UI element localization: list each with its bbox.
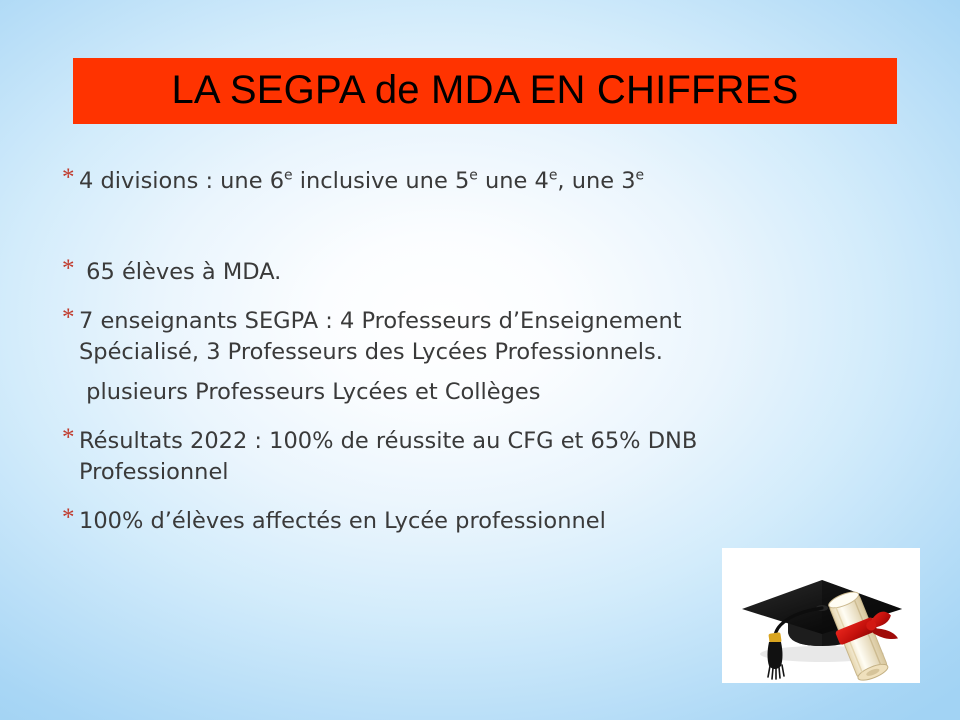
- list-item: plusieurs Professeurs Lycées et Collèges: [62, 377, 892, 408]
- page-title: LA SEGPA de MDA EN CHIFFRES: [171, 70, 798, 112]
- enseignants-line-2: Spécialisé, 3 Professeurs des Lycées Pro…: [79, 339, 663, 365]
- divisions-text-pre: 4 divisions : une 6: [79, 168, 284, 194]
- slide-canvas: LA SEGPA de MDA EN CHIFFRES * 4 division…: [0, 0, 960, 720]
- divisions-text-mid3: , une 3: [557, 168, 635, 194]
- enseignants-line-1: 7 enseignants SEGPA : 4 Professeurs d’En…: [79, 308, 682, 334]
- title-banner: LA SEGPA de MDA EN CHIFFRES: [73, 58, 897, 124]
- list-item: * 4 divisions : une 6e inclusive une 5e …: [62, 166, 892, 197]
- list-item-text: 100% d’élèves affectés en Lycée professi…: [79, 506, 892, 537]
- divisions-text-mid1: inclusive une 5: [293, 168, 470, 194]
- list-item-text: 4 divisions : une 6e inclusive une 5e un…: [79, 166, 892, 197]
- list-item-text: plusieurs Professeurs Lycées et Collèges: [79, 377, 892, 408]
- asterisk-bullet-icon: *: [62, 307, 79, 329]
- ordinal-cinquieme: e: [469, 168, 478, 184]
- asterisk-bullet-icon: *: [62, 507, 79, 529]
- resultats-line-1: Résultats 2022 : 100% de réussite au CFG…: [79, 428, 697, 454]
- list-item: * 65 élèves à MDA.: [62, 257, 892, 288]
- list-item: * Résultats 2022 : 100% de réussite au C…: [62, 426, 892, 488]
- list-item-text: 65 élèves à MDA.: [79, 257, 892, 288]
- list-item: * 7 enseignants SEGPA : 4 Professeurs d’…: [62, 306, 892, 368]
- graduation-cap-image: [722, 548, 920, 683]
- asterisk-bullet-icon: *: [62, 427, 79, 449]
- asterisk-bullet-icon: *: [62, 167, 79, 189]
- divisions-text-mid2: une 4: [478, 168, 549, 194]
- ordinal-sixieme: e: [284, 168, 293, 184]
- graduation-cap-icon: [722, 548, 920, 683]
- resultats-line-2: Professionnel: [79, 459, 229, 485]
- ordinal-troisieme: e: [636, 168, 645, 184]
- list-item-text: Résultats 2022 : 100% de réussite au CFG…: [79, 426, 892, 488]
- asterisk-bullet-icon: *: [62, 258, 79, 280]
- list-item: * 100% d’élèves affectés en Lycée profes…: [62, 506, 892, 537]
- bullet-list: * 4 divisions : une 6e inclusive une 5e …: [62, 166, 892, 537]
- list-item-text: 7 enseignants SEGPA : 4 Professeurs d’En…: [79, 306, 892, 368]
